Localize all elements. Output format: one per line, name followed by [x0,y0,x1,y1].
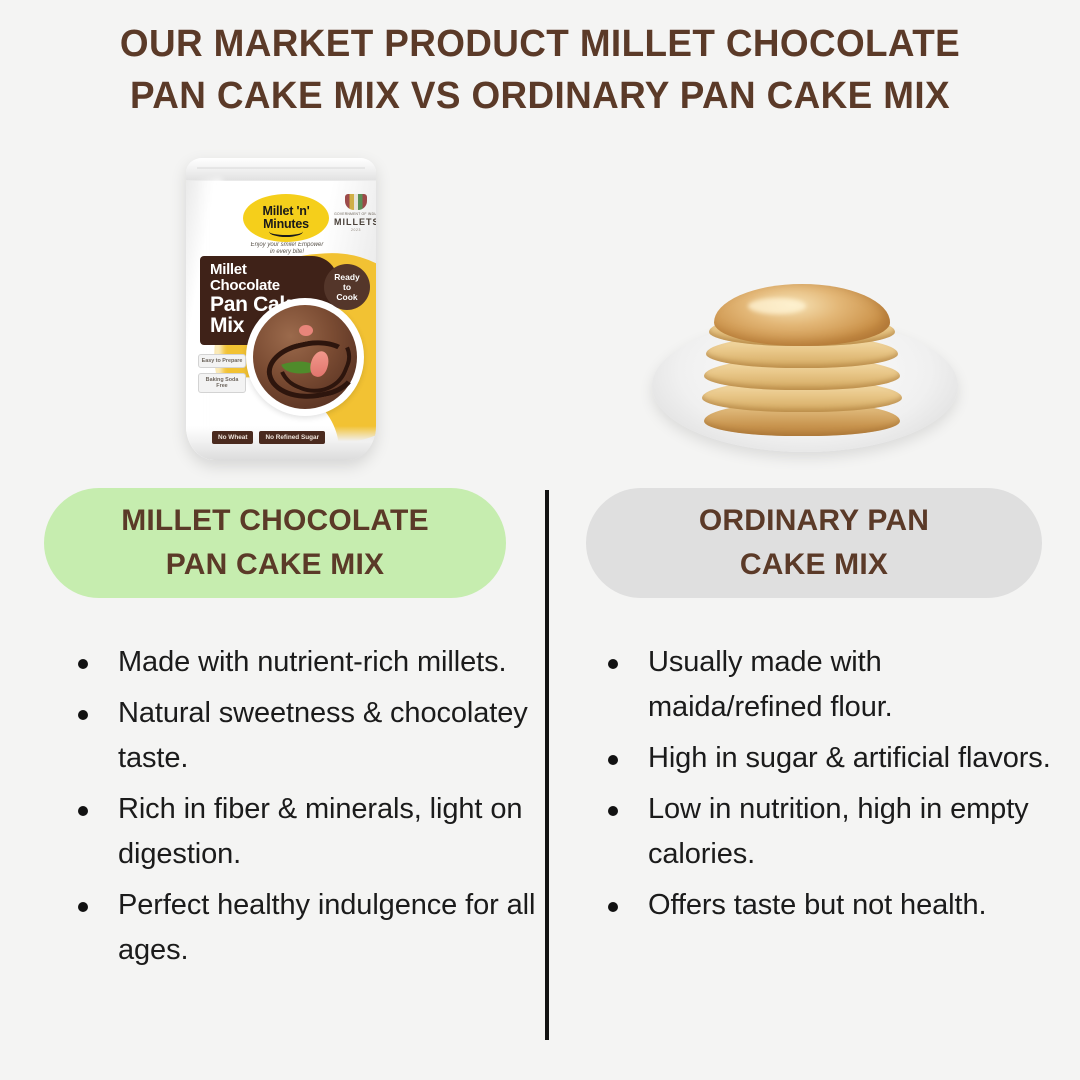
right-column-heading-pill: ORDINARY PAN CAKE MIX [586,488,1042,598]
right-bullet-list: Usually made with maida/refined flour. H… [592,640,1062,928]
strawberry-piece [299,325,313,336]
millets-certification-logo: GOVERNMENT OF INDIA MILLETS 2023 [334,194,376,232]
millets-crest-icon [345,194,367,210]
pouch-body: Millet 'n' Minutes Enjoy your smile! Emp… [186,158,376,460]
list-item: Made with nutrient-rich millets. [62,640,540,685]
left-heading-line-2: PAN CAKE MIX [121,543,429,587]
left-column-heading-pill: MILLET CHOCOLATE PAN CAKE MIX [44,488,506,598]
claim-chip: Baking Soda Free [198,373,246,393]
package-name-line-1: Millet [210,262,330,278]
ready-badge-line-3: Cook [336,292,357,302]
pancake-stack [702,284,902,436]
right-heading-text: ORDINARY PAN CAKE MIX [699,499,929,587]
left-benefits-column: Made with nutrient-rich millets. Natural… [62,640,540,979]
page-title-line-2: PAN CAKE MIX VS ORDINARY PAN CAKE MIX [16,70,1064,122]
right-drawbacks-column: Usually made with maida/refined flour. H… [592,640,1062,934]
page-title-line-1: OUR MARKET PRODUCT MILLET CHOCOLATE [16,18,1064,70]
claim-chip: Easy to Prepare [198,354,246,368]
millets-logo-year: 2023 [334,228,376,232]
hero-images-row: Millet 'n' Minutes Enjoy your smile! Emp… [0,150,1080,480]
list-item: Perfect healthy indulgence for all ages. [62,883,540,973]
right-heading-line-2: CAKE MIX [699,543,929,587]
chocolate-surface [253,305,357,409]
right-heading-line-1: ORDINARY PAN [699,499,929,543]
ordinary-pancake-stack-image [640,278,970,468]
list-item: Low in nutrition, high in empty calories… [592,787,1062,877]
list-item: High in sugar & artificial flavors. [592,736,1062,781]
list-item: Usually made with maida/refined flour. [592,640,1062,730]
page-title: OUR MARKET PRODUCT MILLET CHOCOLATE PAN … [0,18,1080,122]
package-name-line-2: Chocolate [210,278,330,294]
millet-product-package-image: Millet 'n' Minutes Enjoy your smile! Emp… [178,158,390,470]
list-item: Natural sweetness & chocolatey taste. [62,691,540,781]
smile-icon [269,226,303,237]
millets-logo-name: MILLETS [334,217,376,228]
claim-chip: No Refined Sugar [259,431,325,444]
left-heading-text: MILLET CHOCOLATE PAN CAKE MIX [121,499,429,587]
package-side-claims: Easy to Prepare Baking Soda Free [198,354,246,398]
list-item: Offers taste but not health. [592,883,1062,928]
column-divider [545,490,549,1040]
chocolate-bowl-image [246,298,364,416]
ready-to-cook-badge: Ready to Cook [324,264,370,310]
ready-badge-line-2: to [343,282,351,292]
pancake-top-surface [714,284,890,346]
brand-tagline: Enjoy your smile! Empower in every bite! [248,242,326,256]
claim-chip: No Wheat [212,431,253,444]
package-bottom-claims: No Wheat No Refined Sugar [212,431,325,444]
left-bullet-list: Made with nutrient-rich millets. Natural… [62,640,540,973]
ready-badge-line-1: Ready [334,272,360,282]
left-heading-line-1: MILLET CHOCOLATE [121,499,429,543]
brand-logo: Millet 'n' Minutes [243,194,329,242]
list-item: Rich in fiber & minerals, light on diges… [62,787,540,877]
